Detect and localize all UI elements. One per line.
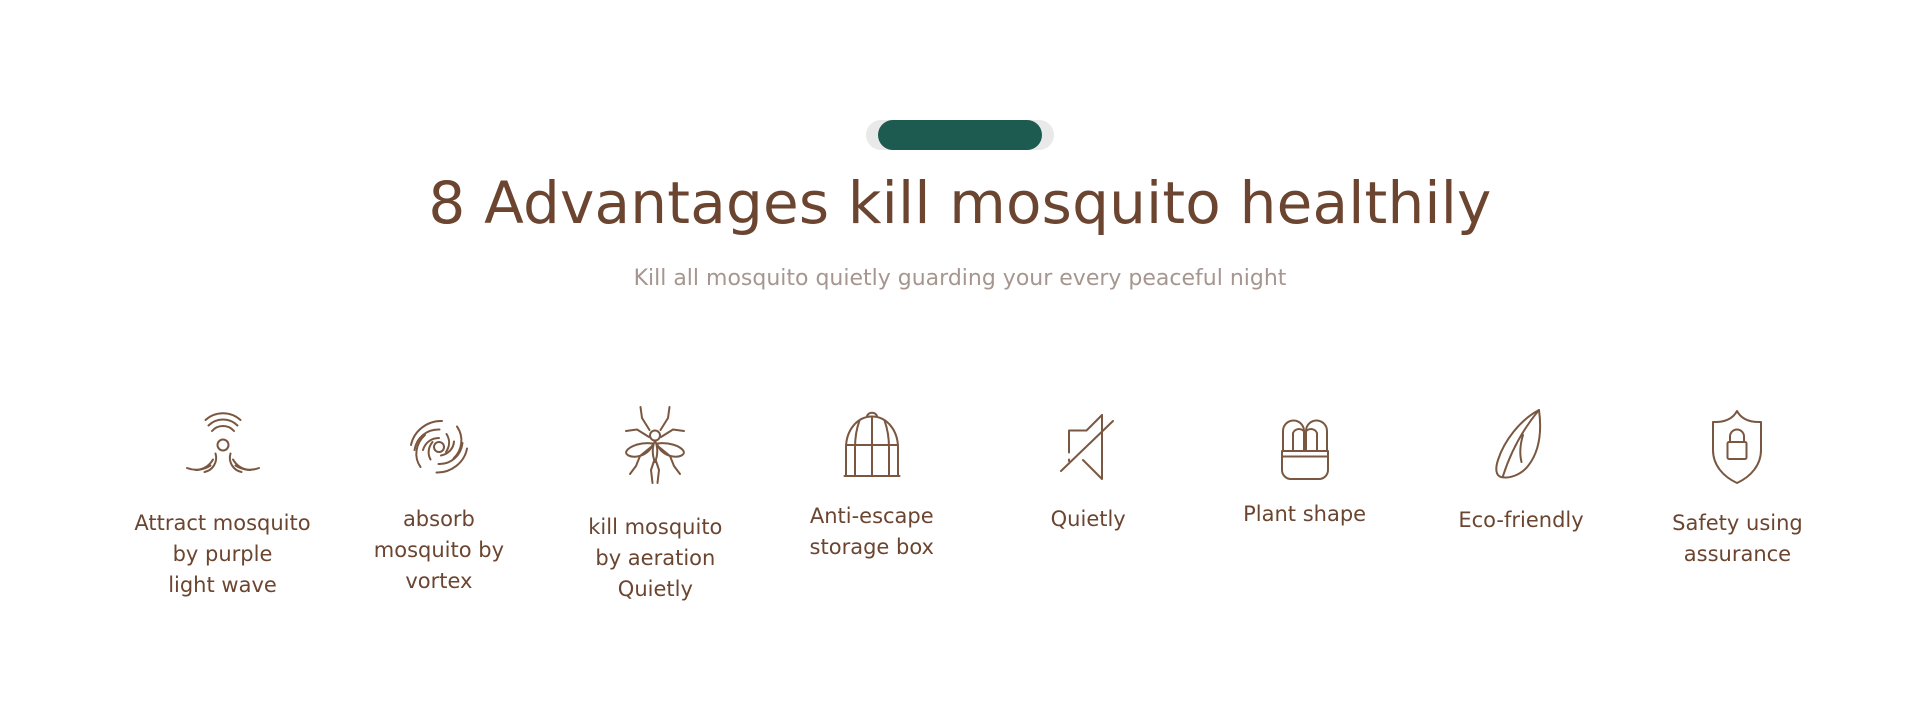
feature-label: Plant shape <box>1243 499 1366 530</box>
decorative-badge <box>0 120 1920 150</box>
feature-list: Attract mosquito by purple light wave <box>120 400 1840 605</box>
feature-label: Safety using assurance <box>1672 508 1803 570</box>
feature-label: Eco-friendly <box>1458 505 1583 536</box>
feature-item-quietly: Quietly <box>986 400 1191 535</box>
feature-item-anti-escape-box: Anti-escape storage box <box>769 400 974 563</box>
shield-lock-icon <box>1706 400 1768 486</box>
feature-highlights-page: 8 Advantages kill mosquito healthily Kil… <box>0 0 1920 716</box>
feature-item-safety-assurance: Safety using assurance <box>1635 400 1840 570</box>
birdcage-icon <box>839 400 905 486</box>
potted-cactus-icon <box>1273 400 1337 486</box>
feature-item-attract-mosquito: Attract mosquito by purple light wave <box>120 400 325 601</box>
feature-label: absorb mosquito by vortex <box>374 504 504 597</box>
feature-item-plant-shape: Plant shape <box>1202 400 1407 530</box>
feature-item-eco-friendly: Eco-friendly <box>1419 400 1624 536</box>
feature-label: Quietly <box>1051 504 1126 535</box>
badge-inner-pill <box>878 120 1042 150</box>
feature-label: kill mosquito by aeration Quietly <box>588 512 722 605</box>
radiating-waves-icon <box>183 400 263 486</box>
page-subtitle: Kill all mosquito quietly guarding your … <box>0 264 1920 294</box>
feature-item-absorb-mosquito: absorb mosquito by vortex <box>336 400 541 597</box>
mosquito-icon <box>616 400 694 486</box>
feature-label: Attract mosquito by purple light wave <box>134 508 310 601</box>
badge-outer-pill <box>866 120 1054 150</box>
leaf-icon <box>1490 400 1552 486</box>
vortex-spiral-icon <box>401 400 477 486</box>
page-title: 8 Advantages kill mosquito healthily <box>0 168 1920 238</box>
feature-label: Anti-escape storage box <box>810 501 934 563</box>
muted-speaker-icon <box>1056 400 1120 486</box>
feature-item-kill-mosquito: kill mosquito by aeration Quietly <box>553 400 758 605</box>
